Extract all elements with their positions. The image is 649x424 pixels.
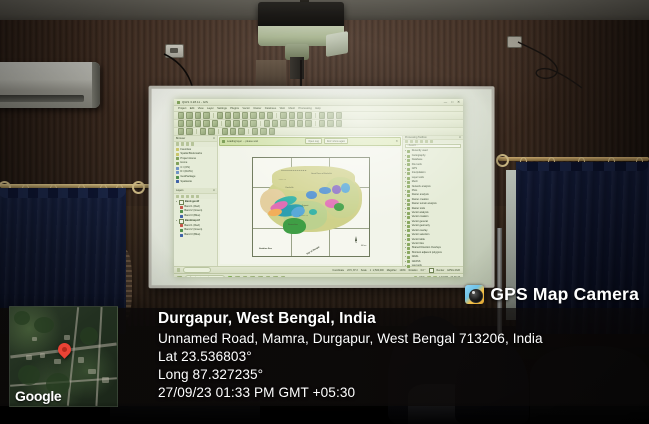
- toolbar-add-delimited-text-icon[interactable]: [280, 120, 286, 126]
- toolbar-delete-feature-icon[interactable]: [212, 120, 218, 126]
- menu-settings[interactable]: Settings: [217, 107, 227, 110]
- browser-panel-close-icon[interactable]: ✕: [213, 137, 215, 140]
- toolbar-open-project-icon[interactable]: [186, 112, 192, 118]
- processing-search-input[interactable]: ⌕ Search…: [405, 144, 461, 148]
- toolbar-attribute-table-icon[interactable]: [305, 112, 311, 118]
- toolbar-python-console-icon[interactable]: [319, 120, 325, 126]
- toolbar-annotation-icon[interactable]: [178, 128, 184, 134]
- north-arrow-label: N: [355, 241, 357, 244]
- taskbar-qgis-icon[interactable]: [228, 276, 233, 277]
- photo-canvas: QGIS 3.28.11 - GIS — □ ✕ Project Edit Vi…: [0, 0, 649, 424]
- toolbar-print-layout-icon[interactable]: [203, 112, 209, 118]
- map-label-region: Gujarat: [302, 205, 309, 207]
- menu-web[interactable]: Web: [280, 107, 285, 110]
- toolbar-new-shapefile-icon[interactable]: [305, 120, 311, 126]
- toolbar-refresh-icon[interactable]: [267, 112, 273, 118]
- window-controls[interactable]: — □ ✕: [444, 100, 460, 104]
- toolbar-show-bookmarks-icon[interactable]: [208, 128, 214, 134]
- qgis-app-icon: [177, 101, 180, 104]
- qgis-main-area: Browser ✕ Favorites Spatial Bookmarks Pr…: [174, 136, 463, 266]
- maximize-icon[interactable]: □: [451, 100, 453, 104]
- map-label-arabian-sea: Arabian Sea: [259, 248, 272, 250]
- processing-run-model-icon[interactable]: [405, 140, 408, 143]
- toolbar-georeferencer-icon[interactable]: [336, 112, 342, 118]
- toolbar-save-project-icon[interactable]: [195, 112, 201, 118]
- toolbar-undo-icon[interactable]: [242, 120, 248, 126]
- air-conditioner: [0, 62, 100, 108]
- gps-latitude: Lat 23.536803°: [158, 349, 543, 364]
- status-locator-input[interactable]: [183, 267, 211, 273]
- processing-toolbox-panel: Processing Toolbox ✕ ⌕ Search… ▸Recently: [402, 136, 463, 266]
- toolbar-georef-settings-icon[interactable]: [260, 128, 266, 134]
- message-bar-close-icon[interactable]: ✕: [395, 139, 398, 143]
- status-render-checkbox[interactable]: [429, 268, 434, 273]
- browser-collapse-icon[interactable]: [186, 142, 189, 145]
- status-scale-label: Scale: [361, 269, 367, 272]
- menu-layer[interactable]: Layer: [207, 107, 214, 110]
- toolbar-new-project-icon[interactable]: [178, 112, 184, 118]
- toolbar-topology-icon[interactable]: [233, 120, 239, 126]
- toolbar-select-expression-icon[interactable]: [238, 128, 244, 134]
- layers-filter-legend-icon[interactable]: [186, 195, 189, 198]
- curtain-rod-finial-left-end: [132, 181, 145, 194]
- menu-view[interactable]: View: [198, 107, 204, 110]
- browser-add-layer-icon[interactable]: [176, 142, 179, 145]
- start-button-icon[interactable]: [177, 276, 182, 277]
- toolbar-add-raster-layer-icon[interactable]: [272, 120, 278, 126]
- status-locator-icon[interactable]: [177, 268, 180, 271]
- ac-side-panel: [92, 62, 100, 108]
- browser-item[interactable]: SpatiaLite: [176, 180, 215, 185]
- message-bar-text: Loading layer ... please wait: [227, 140, 258, 143]
- curtain-rod-finial-right: [496, 154, 509, 167]
- toolbar-zoom-out-icon[interactable]: [233, 112, 239, 118]
- browser-panel-title: Browser: [176, 137, 185, 140]
- ac-vent: [0, 95, 84, 102]
- qgis-message-bar[interactable]: Loading layer ... please wait Open Log D…: [219, 137, 401, 146]
- toolbar-zoom-selection-icon[interactable]: [250, 112, 256, 118]
- processing-history-icon[interactable]: [415, 140, 418, 143]
- gps-map-thumbnail[interactable]: Google: [9, 306, 118, 407]
- taskbar-explorer-icon[interactable]: [235, 276, 240, 277]
- toolbar-processing-toolbox-icon[interactable]: [269, 128, 275, 134]
- projector-side: [326, 31, 348, 57]
- map-scale-bar: 40 km: [361, 245, 366, 247]
- gps-timestamp: 27/09/23 01:33 PM GMT +05:30: [158, 385, 543, 400]
- status-coordinate-label: Coordinate: [332, 269, 344, 272]
- toolbar-label-icon[interactable]: [319, 112, 325, 118]
- toolbar-snapping-icon[interactable]: [225, 120, 231, 126]
- qgis-titlebar: QGIS 3.28.11 - GIS — □ ✕: [174, 99, 463, 106]
- toolbar-plugin-manager-icon[interactable]: [327, 120, 333, 126]
- map-label-region: Great Rann of Kachchh: [311, 173, 332, 175]
- gps-map-camera-logo: GPS Map Camera: [465, 284, 639, 305]
- menu-edit[interactable]: Edit: [190, 107, 195, 110]
- qgis-window[interactable]: QGIS 3.28.11 - GIS — □ ✕ Project Edit Vi…: [174, 99, 463, 277]
- toolbar-vertex-tool-icon[interactable]: [195, 120, 201, 126]
- toolbar-pan-icon[interactable]: [217, 112, 223, 118]
- processing-panel-close-icon[interactable]: ✕: [459, 136, 461, 139]
- processing-panel-title: Processing Toolbox: [405, 136, 427, 139]
- layers-expand-all-icon[interactable]: [191, 195, 194, 198]
- taskbar-store-icon[interactable]: [258, 276, 263, 277]
- processing-results-icon[interactable]: [420, 140, 423, 143]
- status-crs-label[interactable]: EPSG:4326: [447, 269, 460, 272]
- toolbar-add-postgis-icon[interactable]: [289, 120, 295, 126]
- close-icon[interactable]: ✕: [457, 100, 460, 104]
- info-icon: [222, 140, 225, 143]
- gps-info-text: Durgapur, West Bengal, India Unnamed Roa…: [158, 310, 543, 403]
- status-rotation-label: Rotation: [409, 269, 418, 272]
- toolbar-move-feature-icon[interactable]: [203, 120, 209, 126]
- qgis-canvas-area[interactable]: Loading layer ... please wait Open Log D…: [218, 136, 402, 266]
- map-label-region: Kachchh: [286, 187, 294, 189]
- toolbar-zoom-layer-icon[interactable]: [259, 112, 265, 118]
- status-rotation-value[interactable]: 0.0 °: [421, 269, 426, 272]
- tray-battery-icon[interactable]: [433, 276, 436, 277]
- processing-tool-tree[interactable]: ▸Recently used ▸Cartography ▸Database ▸F…: [403, 149, 463, 268]
- taskbar-app-icon[interactable]: [281, 276, 286, 277]
- toolbar-bookmark-icon[interactable]: [200, 128, 206, 134]
- toolbar-zoom-full-icon[interactable]: [242, 112, 248, 118]
- processing-add-script-icon[interactable]: [430, 140, 433, 143]
- message-bar-secondary-button[interactable]: Don't show again: [324, 138, 348, 144]
- processing-panel-toolbar[interactable]: [403, 140, 463, 143]
- status-coordinate-value: 23.5, 87.3: [347, 269, 358, 272]
- toolbar-text-annotation-icon[interactable]: [186, 128, 192, 134]
- processing-search-placeholder: Search…: [409, 145, 419, 147]
- taskbar-chrome-icon[interactable]: [273, 276, 278, 277]
- layer-band-row[interactable]: Band 3 (Blue): [176, 233, 215, 238]
- gps-location-title: Durgapur, West Bengal, India: [158, 310, 543, 328]
- status-render-label: Render: [437, 269, 445, 272]
- map-label-bay-of-bengal: Bay of Bengal: [307, 246, 321, 255]
- qgis-status-bar[interactable]: Coordinate 23.5, 87.3 Scale 1 : 2,500,00…: [174, 266, 463, 273]
- map-canvas[interactable]: ▲▲▲▲▲▲▲▲▲▲▲▲▲ • • • • • • • • • • • • • …: [220, 148, 400, 265]
- tray-network-icon[interactable]: [414, 276, 417, 277]
- windows-taskbar[interactable]: ⌕ Type here to search ENG 1:33 PM 27-09-…: [174, 273, 463, 277]
- tray-volume-icon[interactable]: [427, 276, 430, 277]
- layers-open-style-icon[interactable]: [176, 195, 179, 198]
- menu-mesh[interactable]: Mesh: [289, 107, 296, 110]
- power-cable-right: [516, 40, 586, 90]
- toolbar-select-icon[interactable]: [289, 112, 295, 118]
- menu-project[interactable]: Project: [178, 107, 186, 110]
- menu-database[interactable]: Database: [265, 107, 277, 110]
- toolbar-style-icon[interactable]: [327, 112, 333, 118]
- status-magnifier-value[interactable]: 100%: [400, 269, 406, 272]
- layers-remove-layer-icon[interactable]: [196, 195, 199, 198]
- wall-panel-behind-projector: [256, 60, 286, 86]
- message-bar-primary-button[interactable]: Open Log: [305, 138, 322, 144]
- qgis-left-dock: Browser ✕ Favorites Spatial Bookmarks Pr…: [174, 136, 218, 266]
- menu-processing[interactable]: Processing: [299, 107, 312, 110]
- toolbar-add-wms-icon[interactable]: [297, 120, 303, 126]
- taskbar-browser-icon[interactable]: [243, 276, 248, 277]
- layers-panel-close-icon[interactable]: ✕: [213, 189, 215, 192]
- menu-vector[interactable]: Vector: [242, 107, 250, 110]
- taskbar-date[interactable]: 27-09-23: [450, 276, 460, 277]
- toolbar-add-vector-layer-icon[interactable]: [264, 120, 270, 126]
- layers-add-group-icon[interactable]: [181, 195, 184, 198]
- gps-app-title: GPS Map Camera: [490, 284, 639, 305]
- browser-filter-icon[interactable]: [181, 142, 184, 145]
- bottom-fade: [0, 402, 649, 424]
- toolbar-digitize-toggle-icon[interactable]: [178, 120, 184, 126]
- toolbar-redo-icon[interactable]: [250, 120, 256, 126]
- map-label-region: Saurashtra: [288, 224, 298, 226]
- qgis-window-title: QGIS 3.28.11 - GIS: [182, 100, 208, 104]
- processing-edit-model-icon[interactable]: [410, 140, 413, 143]
- map-figure-frame: ▲▲▲▲▲▲▲▲▲▲▲▲▲ • • • • • • • • • • • • • …: [252, 157, 369, 257]
- toolbar-statistics-icon[interactable]: [222, 128, 228, 134]
- browser-tree[interactable]: Favorites Spatial Bookmarks Project Home…: [174, 147, 217, 186]
- taskbar-clock[interactable]: 1:33 PM: [439, 276, 448, 277]
- taskbar-mail-icon[interactable]: [250, 276, 255, 277]
- qgis-toolbar-row-2[interactable]: [174, 120, 463, 128]
- status-scale-value[interactable]: 1 : 2,500,000: [370, 269, 384, 272]
- gps-longitude: Long 87.327235°: [158, 367, 543, 382]
- taskbar-word-icon[interactable]: [266, 276, 271, 277]
- layers-panel-title: Layers: [176, 189, 184, 192]
- qgis-toolbar-row-1[interactable]: [174, 112, 463, 120]
- toolbar-add-feature-icon[interactable]: [186, 120, 192, 126]
- minimize-icon[interactable]: —: [444, 100, 447, 104]
- toolbar-raster-calculator-icon[interactable]: [252, 128, 258, 134]
- gps-address: Unnamed Road, Mamra, Durgapur, West Beng…: [158, 331, 543, 346]
- browser-refresh-icon[interactable]: [191, 142, 194, 145]
- status-magnifier-label: Magnifier: [387, 269, 397, 272]
- map-location-pin: [55, 340, 73, 358]
- north-arrow: N: [352, 236, 361, 248]
- menu-raster[interactable]: Raster: [253, 107, 261, 110]
- toolbar-help-icon[interactable]: [336, 120, 342, 126]
- camera-badge-icon: [465, 285, 484, 304]
- menu-help[interactable]: Help: [315, 107, 321, 110]
- toolbar-zoom-in-icon[interactable]: [225, 112, 231, 118]
- taskbar-search-box[interactable]: ⌕ Type here to search: [185, 275, 225, 278]
- qgis-toolbar-row-3[interactable]: [174, 128, 463, 136]
- menu-plugins[interactable]: Plugins: [230, 107, 239, 110]
- toolbar-measure-icon[interactable]: [297, 112, 303, 118]
- toolbar-identify-icon[interactable]: [280, 112, 286, 118]
- layers-tree[interactable]: ▾ Band.geotif Band 1 (Red) Band 2 (Green…: [174, 199, 217, 239]
- processing-options-icon[interactable]: [425, 140, 428, 143]
- taskbar-language[interactable]: ENG: [420, 276, 425, 277]
- toolbar-field-calculator-icon[interactable]: [230, 128, 236, 134]
